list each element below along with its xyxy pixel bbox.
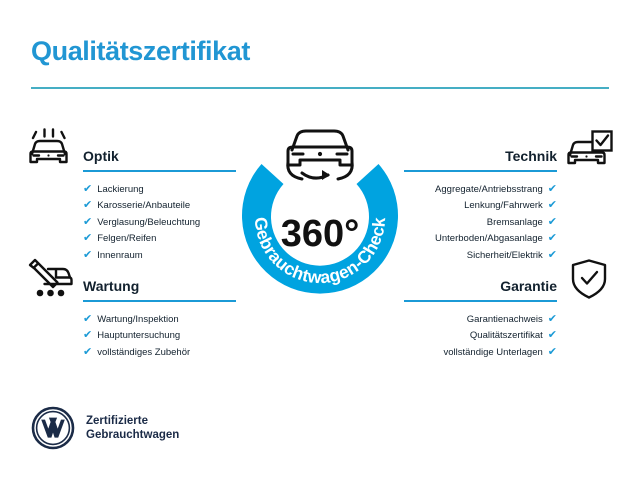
list-item: ✔Felgen/Reifen: [26, 231, 236, 248]
checklist-wartung: ✔Wartung/Inspektion ✔Hauptuntersuchung ✔…: [26, 311, 236, 361]
check-icon: ✔: [83, 200, 92, 211]
section-divider-optik: [83, 170, 236, 172]
check-icon: ✔: [83, 330, 92, 341]
check-icon: ✔: [548, 233, 557, 244]
gebrauchtwagen-check-badge: Gebrauchtwagen-Check 360°: [228, 118, 412, 306]
footer-line-1: Zertifizierte: [86, 414, 179, 428]
car-rotate-icon: [288, 131, 352, 180]
check-icon: ✔: [548, 200, 557, 211]
car-checkbox-icon: [564, 128, 614, 170]
section-technik: Technik ✔Aggregate/Antriebsstrang ✔Lenku…: [404, 128, 614, 264]
list-item: ✔Qualitätszertifikat: [404, 328, 614, 345]
check-icon: ✔: [548, 314, 557, 325]
check-icon: ✔: [548, 347, 557, 358]
quality-certificate-page: Qualitätszertifikat: [0, 0, 640, 480]
check-icon: ✔: [548, 217, 557, 228]
list-item-label: Unterboden/Abgasanlage: [435, 233, 543, 244]
page-title: Qualitätszertifikat: [31, 36, 250, 67]
list-item-label: Lackierung: [97, 184, 143, 195]
list-item-label: Qualitätszertifikat: [470, 330, 543, 341]
list-item-label: Garantienachweis: [467, 314, 543, 325]
section-title-technik: Technik: [505, 148, 557, 164]
list-item-label: Lenkung/Fahrwerk: [464, 200, 543, 211]
list-item-label: vollständige Unterlagen: [443, 347, 542, 358]
car-service-tool-icon: [26, 258, 76, 300]
list-item-label: Hauptuntersuchung: [97, 330, 180, 341]
list-item: ✔Wartung/Inspektion: [26, 311, 236, 328]
list-item: ✔vollständige Unterlagen: [404, 344, 614, 361]
section-header-optik: Optik: [26, 128, 236, 172]
footer-line-2: Gebrauchtwagen: [86, 428, 179, 442]
list-item-label: Bremsanlage: [487, 217, 543, 228]
list-item: ✔Karosserie/Anbauteile: [26, 198, 236, 215]
list-item: ✔Bremsanlage: [404, 214, 614, 231]
checklist-garantie: ✔Garantienachweis ✔Qualitätszertifikat ✔…: [404, 311, 614, 361]
list-item-label: Felgen/Reifen: [97, 233, 156, 244]
section-title-garantie: Garantie: [500, 278, 557, 294]
check-icon: ✔: [548, 184, 557, 195]
list-item: ✔Aggregate/Antriebsstrang: [404, 181, 614, 198]
check-icon: ✔: [83, 347, 92, 358]
footer-brand: Zertifizierte Gebrauchtwagen: [31, 406, 179, 450]
section-header-garantie: Garantie: [404, 258, 614, 302]
list-item: ✔vollständiges Zubehör: [26, 344, 236, 361]
list-item: ✔Lenkung/Fahrwerk: [404, 198, 614, 215]
list-item-label: vollständiges Zubehör: [97, 347, 190, 358]
vw-roundel-icon: [31, 406, 75, 450]
shield-check-icon: [564, 258, 614, 300]
list-item-label: Verglasung/Beleuchtung: [97, 217, 200, 228]
checklist-optik: ✔Lackierung ✔Karosserie/Anbauteile ✔Verg…: [26, 181, 236, 264]
footer-brand-text: Zertifizierte Gebrauchtwagen: [86, 414, 179, 442]
list-item: ✔Lackierung: [26, 181, 236, 198]
section-divider-technik: [404, 170, 557, 172]
section-title-optik: Optik: [83, 148, 119, 164]
list-item: ✔Garantienachweis: [404, 311, 614, 328]
section-header-wartung: Wartung: [26, 258, 236, 302]
list-item: ✔Unterboden/Abgasanlage: [404, 231, 614, 248]
checklist-technik: ✔Aggregate/Antriebsstrang ✔Lenkung/Fahrw…: [404, 181, 614, 264]
title-divider: [31, 87, 609, 89]
section-divider-garantie: [404, 300, 557, 302]
check-icon: ✔: [83, 184, 92, 195]
check-icon: ✔: [548, 330, 557, 341]
section-header-technik: Technik: [404, 128, 614, 172]
badge-center-label: 360°: [281, 213, 360, 255]
list-item: ✔Verglasung/Beleuchtung: [26, 214, 236, 231]
check-icon: ✔: [83, 233, 92, 244]
section-garantie: Garantie ✔Garantienachweis ✔Qualitätszer…: [404, 258, 614, 361]
list-item-label: Wartung/Inspektion: [97, 314, 179, 325]
shiny-car-icon: [26, 128, 76, 170]
check-icon: ✔: [83, 217, 92, 228]
section-title-wartung: Wartung: [83, 278, 139, 294]
list-item-label: Aggregate/Antriebsstrang: [435, 184, 543, 195]
section-optik: Optik ✔Lackierung ✔Karosserie/Anbauteile…: [26, 128, 236, 264]
section-divider-wartung: [83, 300, 236, 302]
list-item-label: Karosserie/Anbauteile: [97, 200, 190, 211]
list-item: ✔Hauptuntersuchung: [26, 328, 236, 345]
section-wartung: Wartung ✔Wartung/Inspektion ✔Hauptunters…: [26, 258, 236, 361]
check-icon: ✔: [83, 314, 92, 325]
